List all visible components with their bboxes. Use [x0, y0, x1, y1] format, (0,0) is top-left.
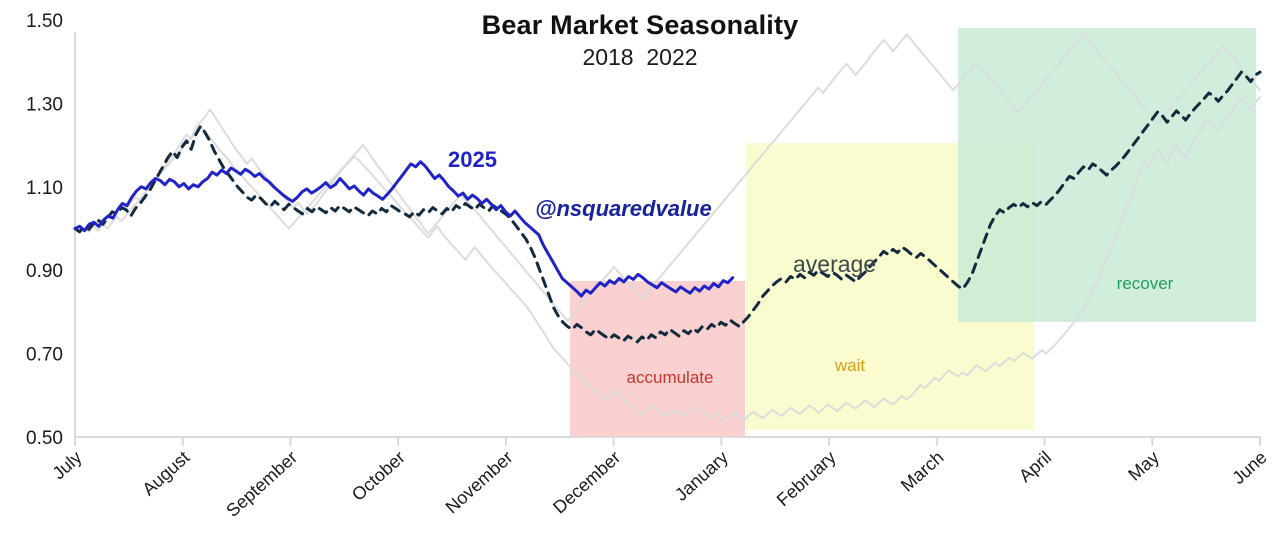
x-axis-tick-labels: JulyAugustSeptemberOctoberNovemberDecemb…: [49, 447, 1271, 521]
y-tick-label: 1.50: [26, 11, 63, 32]
x-tick-label: March: [897, 447, 948, 495]
y-tick-label: 0.90: [26, 261, 63, 282]
y-tick-label: 1.10: [26, 178, 63, 199]
x-tick-label: April: [1015, 447, 1055, 486]
x-tick-label: December: [549, 447, 624, 517]
y-tick-label: 0.70: [26, 345, 63, 366]
annotation-year-2025: 2025: [448, 147, 497, 172]
region-label-recover: recover: [1117, 274, 1174, 293]
x-tick-label: January: [671, 447, 732, 505]
region-accumulate: [570, 281, 745, 437]
x-tick-label: August: [138, 447, 193, 499]
x-tick-label: May: [1124, 447, 1163, 485]
y-tick-label: 1.30: [26, 94, 63, 115]
bear-market-seasonality-chart: Bear Market Seasonality 2018 2022 0.500.…: [0, 0, 1280, 559]
x-tick-label: November: [441, 447, 516, 517]
x-tick-label: September: [222, 447, 301, 521]
x-tick-label: October: [348, 447, 409, 505]
x-tick-label: July: [49, 447, 86, 483]
x-tick-label: February: [773, 447, 840, 510]
y-axis-tick-labels: 0.500.700.901.101.301.50: [26, 11, 63, 449]
annotation-average: average: [793, 251, 876, 277]
region-label-wait: wait: [834, 356, 866, 375]
chart-plot-area: 0.500.700.901.101.301.50 JulyAugustSepte…: [0, 0, 1280, 559]
series-line-2025: [75, 162, 733, 296]
y-tick-label: 0.50: [26, 428, 63, 449]
x-tick-label: June: [1228, 447, 1270, 488]
annotation-handle: @nsquaredvalue: [535, 196, 712, 221]
region-label-accumulate: accumulate: [627, 368, 714, 387]
